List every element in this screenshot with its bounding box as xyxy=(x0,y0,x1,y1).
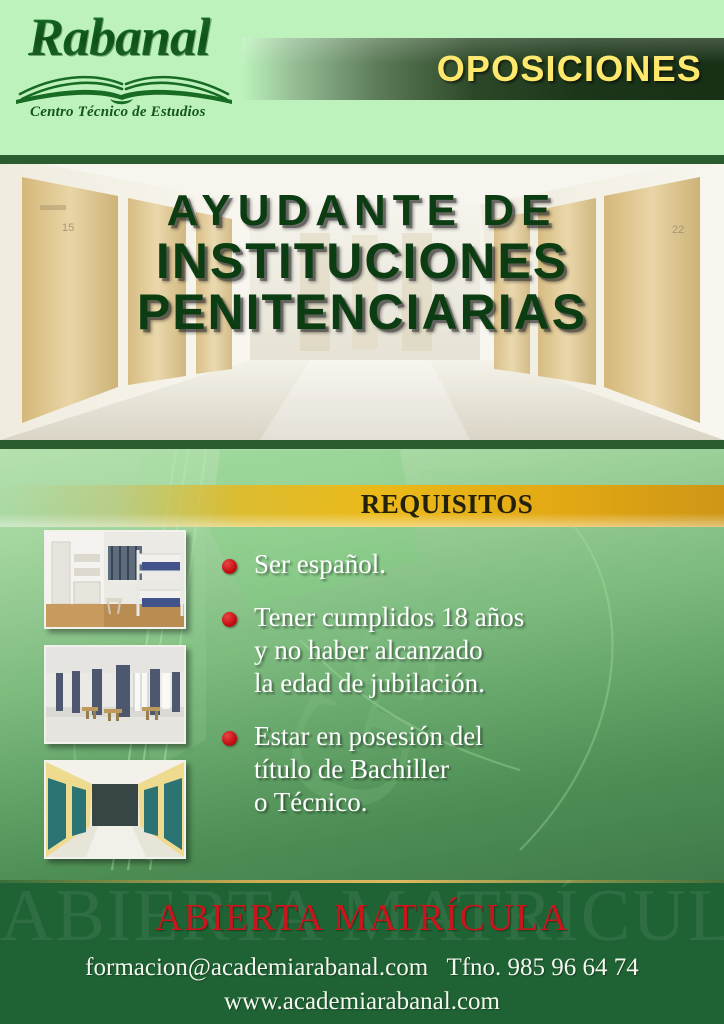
footer: ABIERTA MATRÍCULA ABIERTA MATRÍCULA form… xyxy=(0,880,724,1024)
list-item: Estar en posesión del título de Bachille… xyxy=(222,720,702,819)
hero-top-divider xyxy=(0,155,724,164)
bullet-dot-icon xyxy=(222,731,237,746)
logo-tagline: Centro Técnico de Estudios xyxy=(30,104,206,121)
requirement-text: Tener cumplidos 18 años y no haber alcan… xyxy=(254,601,702,700)
logo-wordmark: Rabanal xyxy=(28,6,210,68)
contact-email-phone: formacion@academiarabanal.com Tfno. 985 … xyxy=(0,954,724,982)
hero-title-line-1: AYUDANTE DE xyxy=(0,185,724,236)
thumbnail-cell-room[interactable] xyxy=(44,530,186,629)
hero-title: AYUDANTE DE INSTITUCIONES PENITENCIARIAS xyxy=(0,185,724,338)
logo: Rabanal Centro Técnico de Estudios xyxy=(20,8,235,128)
requirement-text: Ser español. xyxy=(254,548,702,581)
body-top-divider xyxy=(0,440,724,449)
requirement-text: Estar en posesión del título de Bachille… xyxy=(254,720,702,819)
oposiciones-banner: OPOSICIONES xyxy=(242,38,724,100)
thumbnail-cafeteria[interactable] xyxy=(44,645,186,744)
bullet-dot-icon xyxy=(222,559,237,574)
hero-title-line-2: INSTITUCIONES xyxy=(0,236,724,287)
header: Rabanal Centro Técnico de Estudios OPOSI… xyxy=(0,0,724,155)
requisitos-title: REQUISITOS xyxy=(0,489,724,520)
requirements-section: Gs REQUISITOS xyxy=(0,440,724,880)
open-book-icon xyxy=(14,66,234,106)
hero-section: 15 22 AYUDANTE DE INSTITUCIONES xyxy=(0,155,724,440)
list-item: Tener cumplidos 18 años y no haber alcan… xyxy=(222,601,702,700)
poster: Rabanal Centro Técnico de Estudios OPOSI… xyxy=(0,0,724,1024)
requirements-list: Ser español. Tener cumplidos 18 años y n… xyxy=(222,548,702,839)
enrollment-headline: ABIERTA MATRÍCULA xyxy=(0,896,724,940)
bullet-dot-icon xyxy=(222,612,237,627)
hero-title-line-3: PENITENCIARIAS xyxy=(0,287,724,338)
thumbnail-list xyxy=(44,530,186,875)
list-item: Ser español. xyxy=(222,548,702,581)
contact-website[interactable]: www.academiarabanal.com xyxy=(0,988,724,1016)
oposiciones-label: OPOSICIONES xyxy=(437,48,702,90)
thumbnail-corridor[interactable] xyxy=(44,760,186,859)
